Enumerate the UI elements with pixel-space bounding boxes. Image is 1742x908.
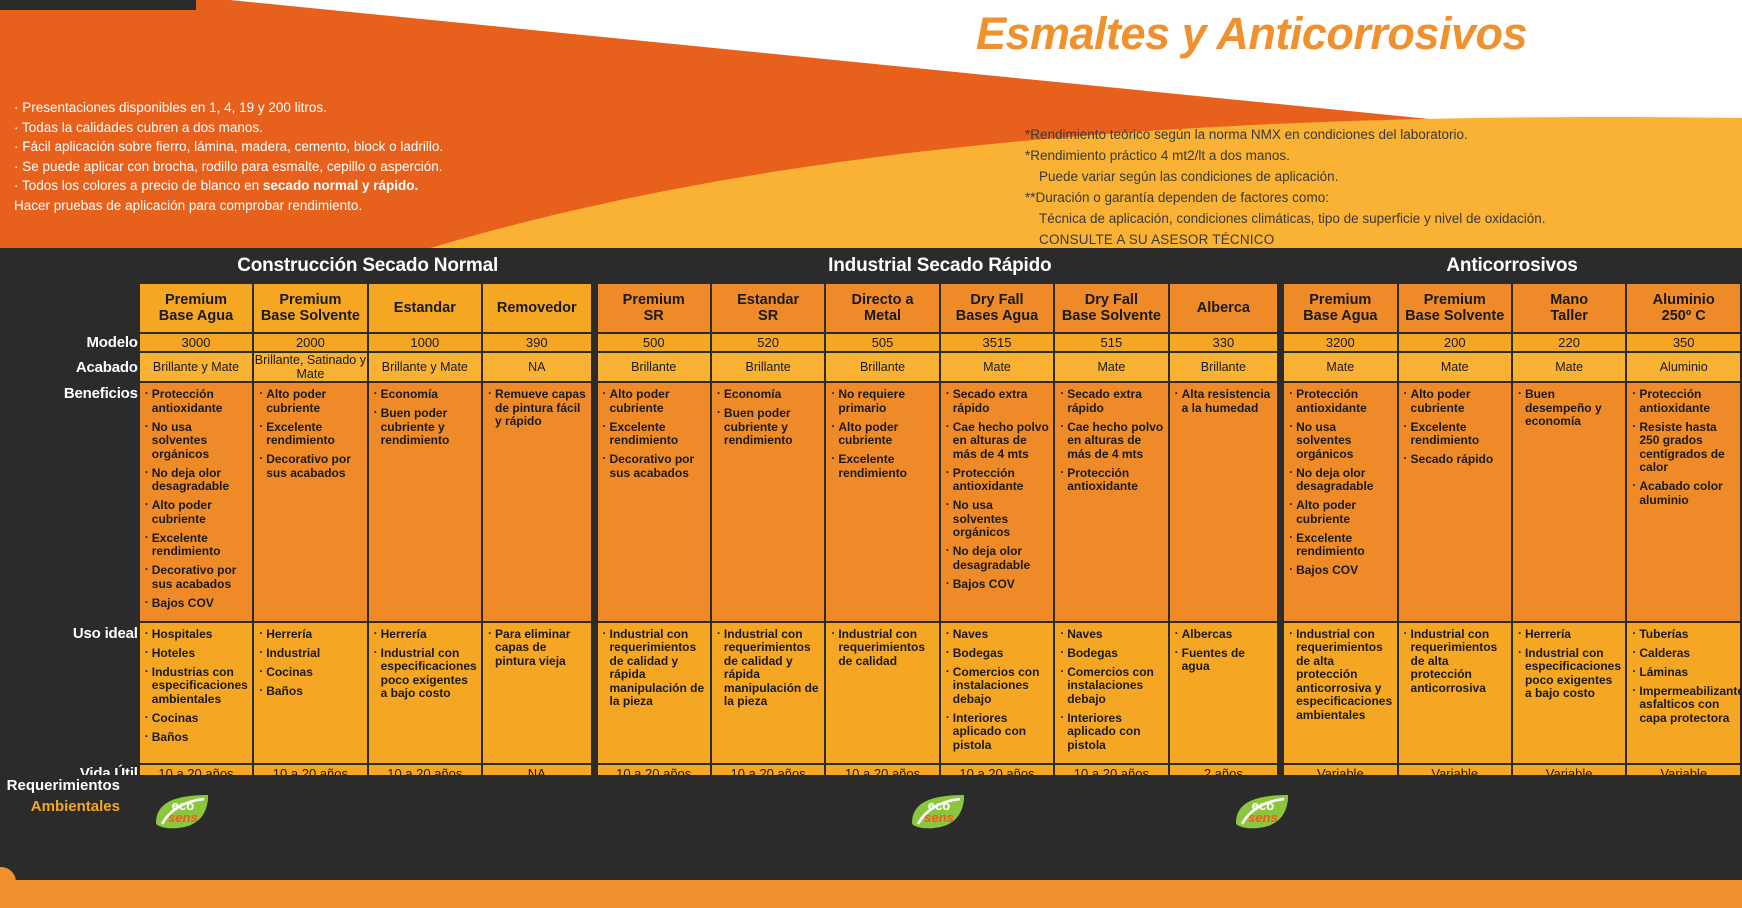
table-group-header-row: Construcción Secado Normal Industrial Se… bbox=[2, 250, 1740, 282]
cell-acabado: Mate bbox=[1513, 353, 1625, 381]
bullet-item: Economía bbox=[374, 388, 477, 402]
bullet-item: Excelente rendimiento bbox=[145, 532, 248, 559]
bullet-item: Excelente rendimiento bbox=[1404, 421, 1507, 448]
bullet-item: Excelente rendimiento bbox=[1289, 532, 1392, 559]
cell-acabado: Brillante bbox=[598, 353, 710, 381]
cell-acabado: Aluminio bbox=[1627, 353, 1740, 381]
column-header-alberca: Alberca bbox=[1170, 284, 1282, 332]
column-header-removedor: Removedor bbox=[483, 284, 595, 332]
bullet-item: Industrial con requerimientos de calidad bbox=[831, 628, 934, 669]
bullet-item: Cocinas bbox=[259, 666, 362, 680]
cell-uso-ideal: TuberíasCalderasLáminasImpermeabilizante… bbox=[1627, 623, 1740, 763]
eco-sens-badge: ecosens bbox=[908, 793, 970, 829]
bullet-item: Alto poder cubriente bbox=[259, 388, 362, 415]
bullet-item: Alto poder cubriente bbox=[603, 388, 706, 415]
cell-modelo: 1000 bbox=[369, 334, 481, 351]
footer-orange-band bbox=[0, 880, 1742, 908]
bullet-item: Buen poder cubriente y rendimiento bbox=[717, 407, 820, 448]
bullet-item: Cae hecho polvo en alturas de más de 4 m… bbox=[1060, 421, 1163, 462]
header: Esmaltes y Anticorrosivos · Presentacion… bbox=[0, 0, 1742, 248]
cell-modelo: 3000 bbox=[140, 334, 252, 351]
bullet-item: Albercas bbox=[1175, 628, 1273, 642]
column-header-estandar-sr: EstandarSR bbox=[712, 284, 824, 332]
cell-modelo: 330 bbox=[1170, 334, 1282, 351]
table-row-uso-ideal: Uso ideal HospitalesHotelesIndustrias co… bbox=[2, 623, 1740, 763]
requerimientos-line2: Ambientales bbox=[0, 796, 120, 817]
bullet-item: Naves bbox=[1060, 628, 1163, 642]
header-bullet: · Todas la calidades cubren a dos manos. bbox=[14, 118, 484, 138]
header-bullet: · Se puede aplicar con brocha, rodillo p… bbox=[14, 157, 484, 177]
column-header-premium-base-solvente: PremiumBase Solvente bbox=[254, 284, 366, 332]
bullet-item: Alto poder cubriente bbox=[1404, 388, 1507, 415]
bullet-item: Resiste hasta 250 grados centígrados de … bbox=[1632, 421, 1736, 475]
page-title-part1: Esmaltes bbox=[976, 8, 1182, 59]
cell-uso-ideal: NavesBodegasComercios con instalaciones … bbox=[1055, 623, 1167, 763]
bullet-item: Alto poder cubriente bbox=[831, 421, 934, 448]
bullet-item: Para eliminar capas de pintura vieja bbox=[488, 628, 586, 669]
bullet-item: No deja olor desagradable bbox=[1289, 467, 1392, 494]
group-header-spacer bbox=[2, 250, 138, 282]
bullet-item: Decorativo por sus acabados bbox=[259, 453, 362, 480]
header-left-bullets: · Presentaciones disponibles en 1, 4, 19… bbox=[14, 98, 484, 215]
group-header-construccion: Construcción Secado Normal bbox=[140, 250, 596, 282]
cell-uso-ideal: Industrial con requerimientos de calidad… bbox=[712, 623, 824, 763]
cell-modelo: 520 bbox=[712, 334, 824, 351]
column-header-spacer bbox=[2, 284, 138, 332]
bullet-item: No usa solventes orgánicos bbox=[145, 421, 248, 462]
bullet-item: Protección antioxidante bbox=[1060, 467, 1163, 494]
bullet-item: Industrial con requerimientos de alta pr… bbox=[1404, 628, 1507, 696]
cell-beneficios: Secado extra rápidoCae hecho polvo en al… bbox=[1055, 383, 1167, 621]
cell-beneficios: EconomíaBuen poder cubriente y rendimien… bbox=[369, 383, 481, 621]
column-header-aluminio: Aluminio250º C bbox=[1627, 284, 1740, 332]
comparison-table: Construcción Secado Normal Industrial Se… bbox=[0, 248, 1742, 866]
bullet-item: Buen poder cubriente y rendimiento bbox=[374, 407, 477, 448]
cell-acabado: Brillante, Satinado y Mate bbox=[254, 353, 366, 381]
bullet-item: Excelente rendimiento bbox=[259, 421, 362, 448]
bullet-item: Buen desempeño y economía bbox=[1518, 388, 1621, 429]
column-header-directo-a-metal: Directo aMetal bbox=[826, 284, 938, 332]
bullet-item: Excelente rendimiento bbox=[831, 453, 934, 480]
bullet-item: Decorativo por sus acabados bbox=[145, 564, 248, 591]
bullet-item: Industrial con especificaciones poco exi… bbox=[374, 647, 477, 701]
bullet-item: Protección antioxidante bbox=[1632, 388, 1736, 415]
header-note: **Duración o garantía dependen de factor… bbox=[1025, 187, 1742, 208]
bullet-item: Herrería bbox=[374, 628, 477, 642]
cell-acabado: Mate bbox=[1055, 353, 1167, 381]
bullet-item: Hoteles bbox=[145, 647, 248, 661]
cell-beneficios: Remueve capas de pintura fácil y rápido bbox=[483, 383, 595, 621]
cell-beneficios: No requiere primarioAlto poder cubriente… bbox=[826, 383, 938, 621]
svg-text:sens: sens bbox=[1248, 810, 1278, 825]
page-title-part2: y Anticorrosivos bbox=[1182, 8, 1527, 59]
bullet-item: Protección antioxidante bbox=[946, 467, 1049, 494]
bullet-item: Naves bbox=[946, 628, 1049, 642]
cell-beneficios: Alto poder cubrienteExcelente rendimient… bbox=[254, 383, 366, 621]
header-note: Puede variar según las condiciones de ap… bbox=[1025, 166, 1742, 187]
table-row-acabado: Acabado Brillante y Mate Brillante, Sati… bbox=[2, 353, 1740, 381]
group-header-anticorrosivos: Anticorrosivos bbox=[1284, 250, 1740, 282]
eco-sens-badge: ecosens bbox=[1232, 793, 1294, 829]
requerimientos-line1: Requerimientos bbox=[0, 775, 120, 796]
bullet-item: Secado extra rápido bbox=[946, 388, 1049, 415]
bullet-item: Remueve capas de pintura fácil y rápido bbox=[488, 388, 586, 429]
bullet-item: Industrial bbox=[259, 647, 362, 661]
cell-acabado: Brillante y Mate bbox=[140, 353, 252, 381]
cell-modelo: 515 bbox=[1055, 334, 1167, 351]
table-row-beneficios: Beneficios Protección antioxidanteNo usa… bbox=[2, 383, 1740, 621]
bullet-item: Industrias con especificaciones ambienta… bbox=[145, 666, 248, 707]
bullet-item: Calderas bbox=[1632, 647, 1736, 661]
cell-modelo: 200 bbox=[1399, 334, 1511, 351]
bullet-item: Impermeabilizantes asfalticos con capa p… bbox=[1632, 685, 1736, 726]
cell-uso-ideal: HerreríaIndustrial con especificaciones … bbox=[369, 623, 481, 763]
cell-acabado: Mate bbox=[1284, 353, 1396, 381]
cell-modelo: 505 bbox=[826, 334, 938, 351]
bullet-item: Industrial con requerimientos de calidad… bbox=[603, 628, 706, 709]
header-bullet: · Fácil aplicación sobre fierro, lámina,… bbox=[14, 137, 484, 157]
header-note-advisor: CONSULTE A SU ASESOR TÉCNICO bbox=[1025, 229, 1742, 248]
column-header-premium-sr: PremiumSR bbox=[598, 284, 710, 332]
cell-acabado: Brillante bbox=[1170, 353, 1282, 381]
cell-uso-ideal: Industrial con requerimientos de calidad bbox=[826, 623, 938, 763]
bullet-item: Secado rápido bbox=[1404, 453, 1507, 467]
column-header-dry-fall-base-solvente: Dry FallBase Solvente bbox=[1055, 284, 1167, 332]
cell-uso-ideal: HerreríaIndustrial con especificaciones … bbox=[1513, 623, 1625, 763]
cell-acabado: Brillante y Mate bbox=[369, 353, 481, 381]
row-label-requerimientos-ambientales: Requerimientos Ambientales bbox=[0, 775, 128, 817]
bullet-item: Láminas bbox=[1632, 666, 1736, 680]
bullet-item: Cocinas bbox=[145, 712, 248, 726]
bullet-item: Protección antioxidante bbox=[1289, 388, 1392, 415]
cell-beneficios: EconomíaBuen poder cubriente y rendimien… bbox=[712, 383, 824, 621]
bullet-item: Industrial con requerimientos de alta pr… bbox=[1289, 628, 1392, 723]
bullet-item: Fuentes de agua bbox=[1175, 647, 1273, 674]
bullet-item: No usa solventes orgánicos bbox=[946, 499, 1049, 540]
bullet-item: Secado extra rápido bbox=[1060, 388, 1163, 415]
cell-uso-ideal: HospitalesHotelesIndustrias con especifi… bbox=[140, 623, 252, 763]
header-right-notes: *Rendimiento teórico según la norma NMX … bbox=[1025, 124, 1742, 248]
bullet-item: Bajos COV bbox=[946, 578, 1049, 592]
cell-acabado: Mate bbox=[1399, 353, 1511, 381]
bullet-item: Industrial con requerimientos de calidad… bbox=[717, 628, 820, 709]
bullet-item: Baños bbox=[259, 685, 362, 699]
bullet-item: No deja olor desagradable bbox=[946, 545, 1049, 572]
bullet-item: Alto poder cubriente bbox=[1289, 499, 1392, 526]
cell-uso-ideal: Industrial con requerimientos de calidad… bbox=[598, 623, 710, 763]
bullet-item: Bodegas bbox=[1060, 647, 1163, 661]
bullet-item: Herrería bbox=[259, 628, 362, 642]
column-header-dry-fall-base-agua: Dry FallBases Agua bbox=[941, 284, 1053, 332]
header-note: Técnica de aplicación, condiciones climá… bbox=[1025, 208, 1742, 229]
bullet-item: Acabado color aluminio bbox=[1632, 480, 1736, 507]
row-label-acabado: Acabado bbox=[2, 353, 138, 381]
comparison-table-container: Construcción Secado Normal Industrial Se… bbox=[0, 248, 1742, 775]
cell-beneficios: Protección antioxidanteNo usa solventes … bbox=[1284, 383, 1396, 621]
cell-uso-ideal: Industrial con requerimientos de alta pr… bbox=[1284, 623, 1396, 763]
bullet-item: Interiores aplicado con pistola bbox=[946, 712, 1049, 753]
bullet-item: Cae hecho polvo en alturas de más de 4 m… bbox=[946, 421, 1049, 462]
svg-text:sens: sens bbox=[168, 810, 198, 825]
page-title: Esmaltes y Anticorrosivos bbox=[976, 8, 1527, 60]
header-note: *Rendimiento teórico según la norma NMX … bbox=[1025, 124, 1742, 145]
cell-acabado: Brillante bbox=[826, 353, 938, 381]
bullet-item: Economía bbox=[717, 388, 820, 402]
cell-modelo: 3515 bbox=[941, 334, 1053, 351]
cell-modelo: 2000 bbox=[254, 334, 366, 351]
cell-uso-ideal: HerreríaIndustrialCocinasBaños bbox=[254, 623, 366, 763]
bullet-item: No deja olor desagradable bbox=[145, 467, 248, 494]
cell-beneficios: Buen desempeño y economía bbox=[1513, 383, 1625, 621]
cell-modelo: 390 bbox=[483, 334, 595, 351]
bullet-item: Bodegas bbox=[946, 647, 1049, 661]
bullet-item: No usa solventes orgánicos bbox=[1289, 421, 1392, 462]
infographic-root: Esmaltes y Anticorrosivos · Presentacion… bbox=[0, 0, 1742, 908]
cell-modelo: 500 bbox=[598, 334, 710, 351]
bullet-item: Hospitales bbox=[145, 628, 248, 642]
table-column-header-row: PremiumBase Agua PremiumBase Solvente Es… bbox=[2, 284, 1740, 332]
bullet-item: Comercios con instalaciones debajo bbox=[1060, 666, 1163, 707]
bullet-item: No requiere primario bbox=[831, 388, 934, 415]
bullet-item: Protección antioxidante bbox=[145, 388, 248, 415]
cell-beneficios: Alto poder cubrienteExcelente rendimient… bbox=[1399, 383, 1511, 621]
cell-modelo: 220 bbox=[1513, 334, 1625, 351]
cell-uso-ideal: NavesBodegasComercios con instalaciones … bbox=[941, 623, 1053, 763]
header-bullet: · Presentaciones disponibles en 1, 4, 19… bbox=[14, 98, 484, 118]
cell-beneficios: Secado extra rápidoCae hecho polvo en al… bbox=[941, 383, 1053, 621]
row-label-modelo: Modelo bbox=[2, 334, 138, 351]
cell-uso-ideal: AlbercasFuentes de agua bbox=[1170, 623, 1282, 763]
group-header-industrial: Industrial Secado Rápido bbox=[598, 250, 1283, 282]
bullet-item: Herrería bbox=[1518, 628, 1621, 642]
bullet-item: Tuberías bbox=[1632, 628, 1736, 642]
column-header-estandar: Estandar bbox=[369, 284, 481, 332]
column-header-anti-premium-base-agua: PremiumBase Agua bbox=[1284, 284, 1396, 332]
column-header-anti-premium-base-solvente: PremiumBase Solvente bbox=[1399, 284, 1511, 332]
cell-beneficios: Alta resistencia a la humedad bbox=[1170, 383, 1282, 621]
eco-sens-badge: ecosens bbox=[152, 793, 214, 829]
column-header-premium-base-agua: PremiumBase Agua bbox=[140, 284, 252, 332]
bullet-item: Comercios con instalaciones debajo bbox=[946, 666, 1049, 707]
bullet-item: Bajos COV bbox=[1289, 564, 1392, 578]
bullet-item: Industrial con especificaciones poco exi… bbox=[1518, 647, 1621, 701]
bullet-item: Bajos COV bbox=[145, 597, 248, 611]
bullet-item: Decorativo por sus acabados bbox=[603, 453, 706, 480]
bullet-item: Alto poder cubriente bbox=[145, 499, 248, 526]
cell-beneficios: Protección antioxidanteNo usa solventes … bbox=[140, 383, 252, 621]
cell-modelo: 3200 bbox=[1284, 334, 1396, 351]
bullet-item: Interiores aplicado con pistola bbox=[1060, 712, 1163, 753]
table-row-modelo: Modelo 3000 2000 1000 390 500 520 505 35… bbox=[2, 334, 1740, 351]
footer: Requerimientos Ambientales ecosensecosen… bbox=[0, 775, 1742, 908]
header-bullet-highlight: · Todos los colores a precio de blanco e… bbox=[14, 176, 484, 196]
row-label-uso-ideal: Uso ideal bbox=[2, 623, 138, 763]
cell-acabado: NA bbox=[483, 353, 595, 381]
cell-acabado: Brillante bbox=[712, 353, 824, 381]
header-note: *Rendimiento práctico 4 mt2/lt a dos man… bbox=[1025, 145, 1742, 166]
bullet-item: Alta resistencia a la humedad bbox=[1175, 388, 1273, 415]
cell-beneficios: Alto poder cubrienteExcelente rendimient… bbox=[598, 383, 710, 621]
column-header-mano-taller: ManoTaller bbox=[1513, 284, 1625, 332]
bullet-item: Baños bbox=[145, 731, 248, 745]
bullet-item: Excelente rendimiento bbox=[603, 421, 706, 448]
header-bullet: Hacer pruebas de aplicación para comprob… bbox=[14, 196, 484, 216]
cell-uso-ideal: Para eliminar capas de pintura vieja bbox=[483, 623, 595, 763]
cell-modelo: 350 bbox=[1627, 334, 1740, 351]
svg-text:sens: sens bbox=[924, 810, 954, 825]
row-label-beneficios: Beneficios bbox=[2, 383, 138, 621]
cell-uso-ideal: Industrial con requerimientos de alta pr… bbox=[1399, 623, 1511, 763]
cell-beneficios: Protección antioxidanteResiste hasta 250… bbox=[1627, 383, 1740, 621]
cell-acabado: Mate bbox=[941, 353, 1053, 381]
